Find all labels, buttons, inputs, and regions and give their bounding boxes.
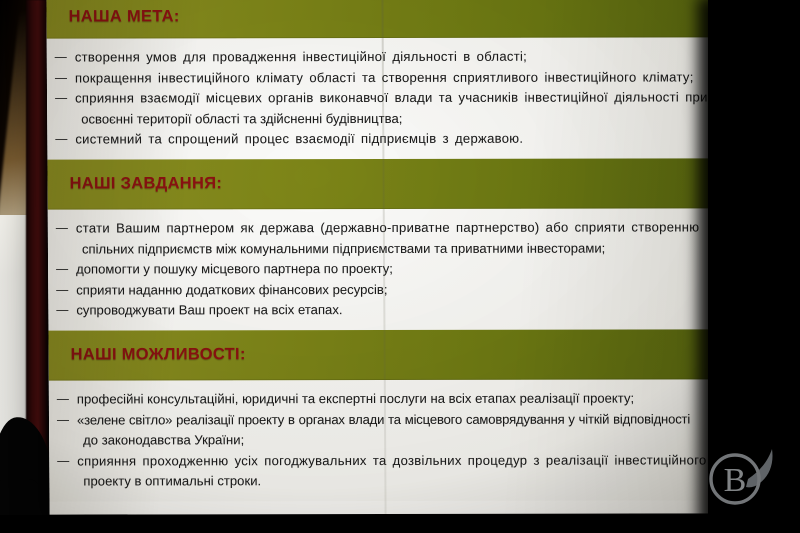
section-body-2: стати Вашим партнером як держава (держав…: [48, 208, 712, 330]
bullet-item-continuation: освоєнні території області та здійсненні…: [47, 108, 710, 129]
section-heading-band-3: НАШІ МОЖЛИВОСТІ:: [48, 329, 711, 380]
bullet-list-3: професійні консультаційні, юридичні та е…: [49, 388, 713, 491]
bullet-list-2: стати Вашим партнером як держава (держав…: [48, 217, 712, 320]
bullet-item: професійні консультаційні, юридичні та е…: [49, 388, 712, 409]
bullet-item: покращення інвестиційного клімату област…: [47, 67, 710, 88]
bullet-item-continuation: проекту в оптимальні строки.: [49, 471, 712, 492]
bullet-item: стати Вашим партнером як держава (держав…: [48, 217, 711, 238]
bullet-item: супроводжувати Ваш проект на всіх етапах…: [48, 300, 711, 321]
bullet-item-continuation: спільних підприємств між комунальними пі…: [48, 238, 711, 259]
section-body-1: створення умов для провадження інвестиці…: [47, 37, 711, 159]
bullet-item: сприяння взаємодії місцевих органів вико…: [47, 88, 710, 109]
section-heading-band-1: НАША МЕТА:: [46, 0, 709, 39]
section-heading-2: НАШІ ЗАВДАННЯ:: [48, 175, 223, 194]
bullet-list-1: створення умов для провадження інвестиці…: [47, 46, 711, 149]
section-heading-band-2: НАШІ ЗАВДАННЯ:: [47, 158, 710, 209]
presentation-slide: НАША МЕТА: створення умов для провадженн…: [46, 0, 712, 515]
section-heading-1: НАША МЕТА:: [46, 7, 179, 26]
section-heading-3: НАШІ МОЖЛИВОСТІ:: [49, 346, 246, 365]
section-body-3: професійні консультаційні, юридичні та е…: [49, 379, 713, 501]
projected-slide-photograph: НАША МЕТА: створення умов для провадженн…: [0, 0, 800, 533]
bullet-item: сприяти наданню додаткових фінансових ре…: [48, 279, 711, 300]
bullet-item: допомогти у пошуку місцевого партнера по…: [48, 259, 711, 280]
photo-bottom-dark-edge: [0, 515, 800, 533]
bullet-item: системний та спрощений процес взаємодії …: [47, 129, 710, 150]
bullet-item: «зелене світло» реалізації проекту в орг…: [49, 409, 712, 430]
bullet-item: сприяння проходженню усіх погоджувальних…: [49, 450, 712, 471]
bullet-item: створення умов для провадження інвестиці…: [47, 46, 710, 67]
watermark-logo: B: [702, 441, 780, 515]
bullet-item-continuation: до законодавства України;: [49, 430, 712, 451]
watermark-letter: B: [724, 462, 747, 499]
